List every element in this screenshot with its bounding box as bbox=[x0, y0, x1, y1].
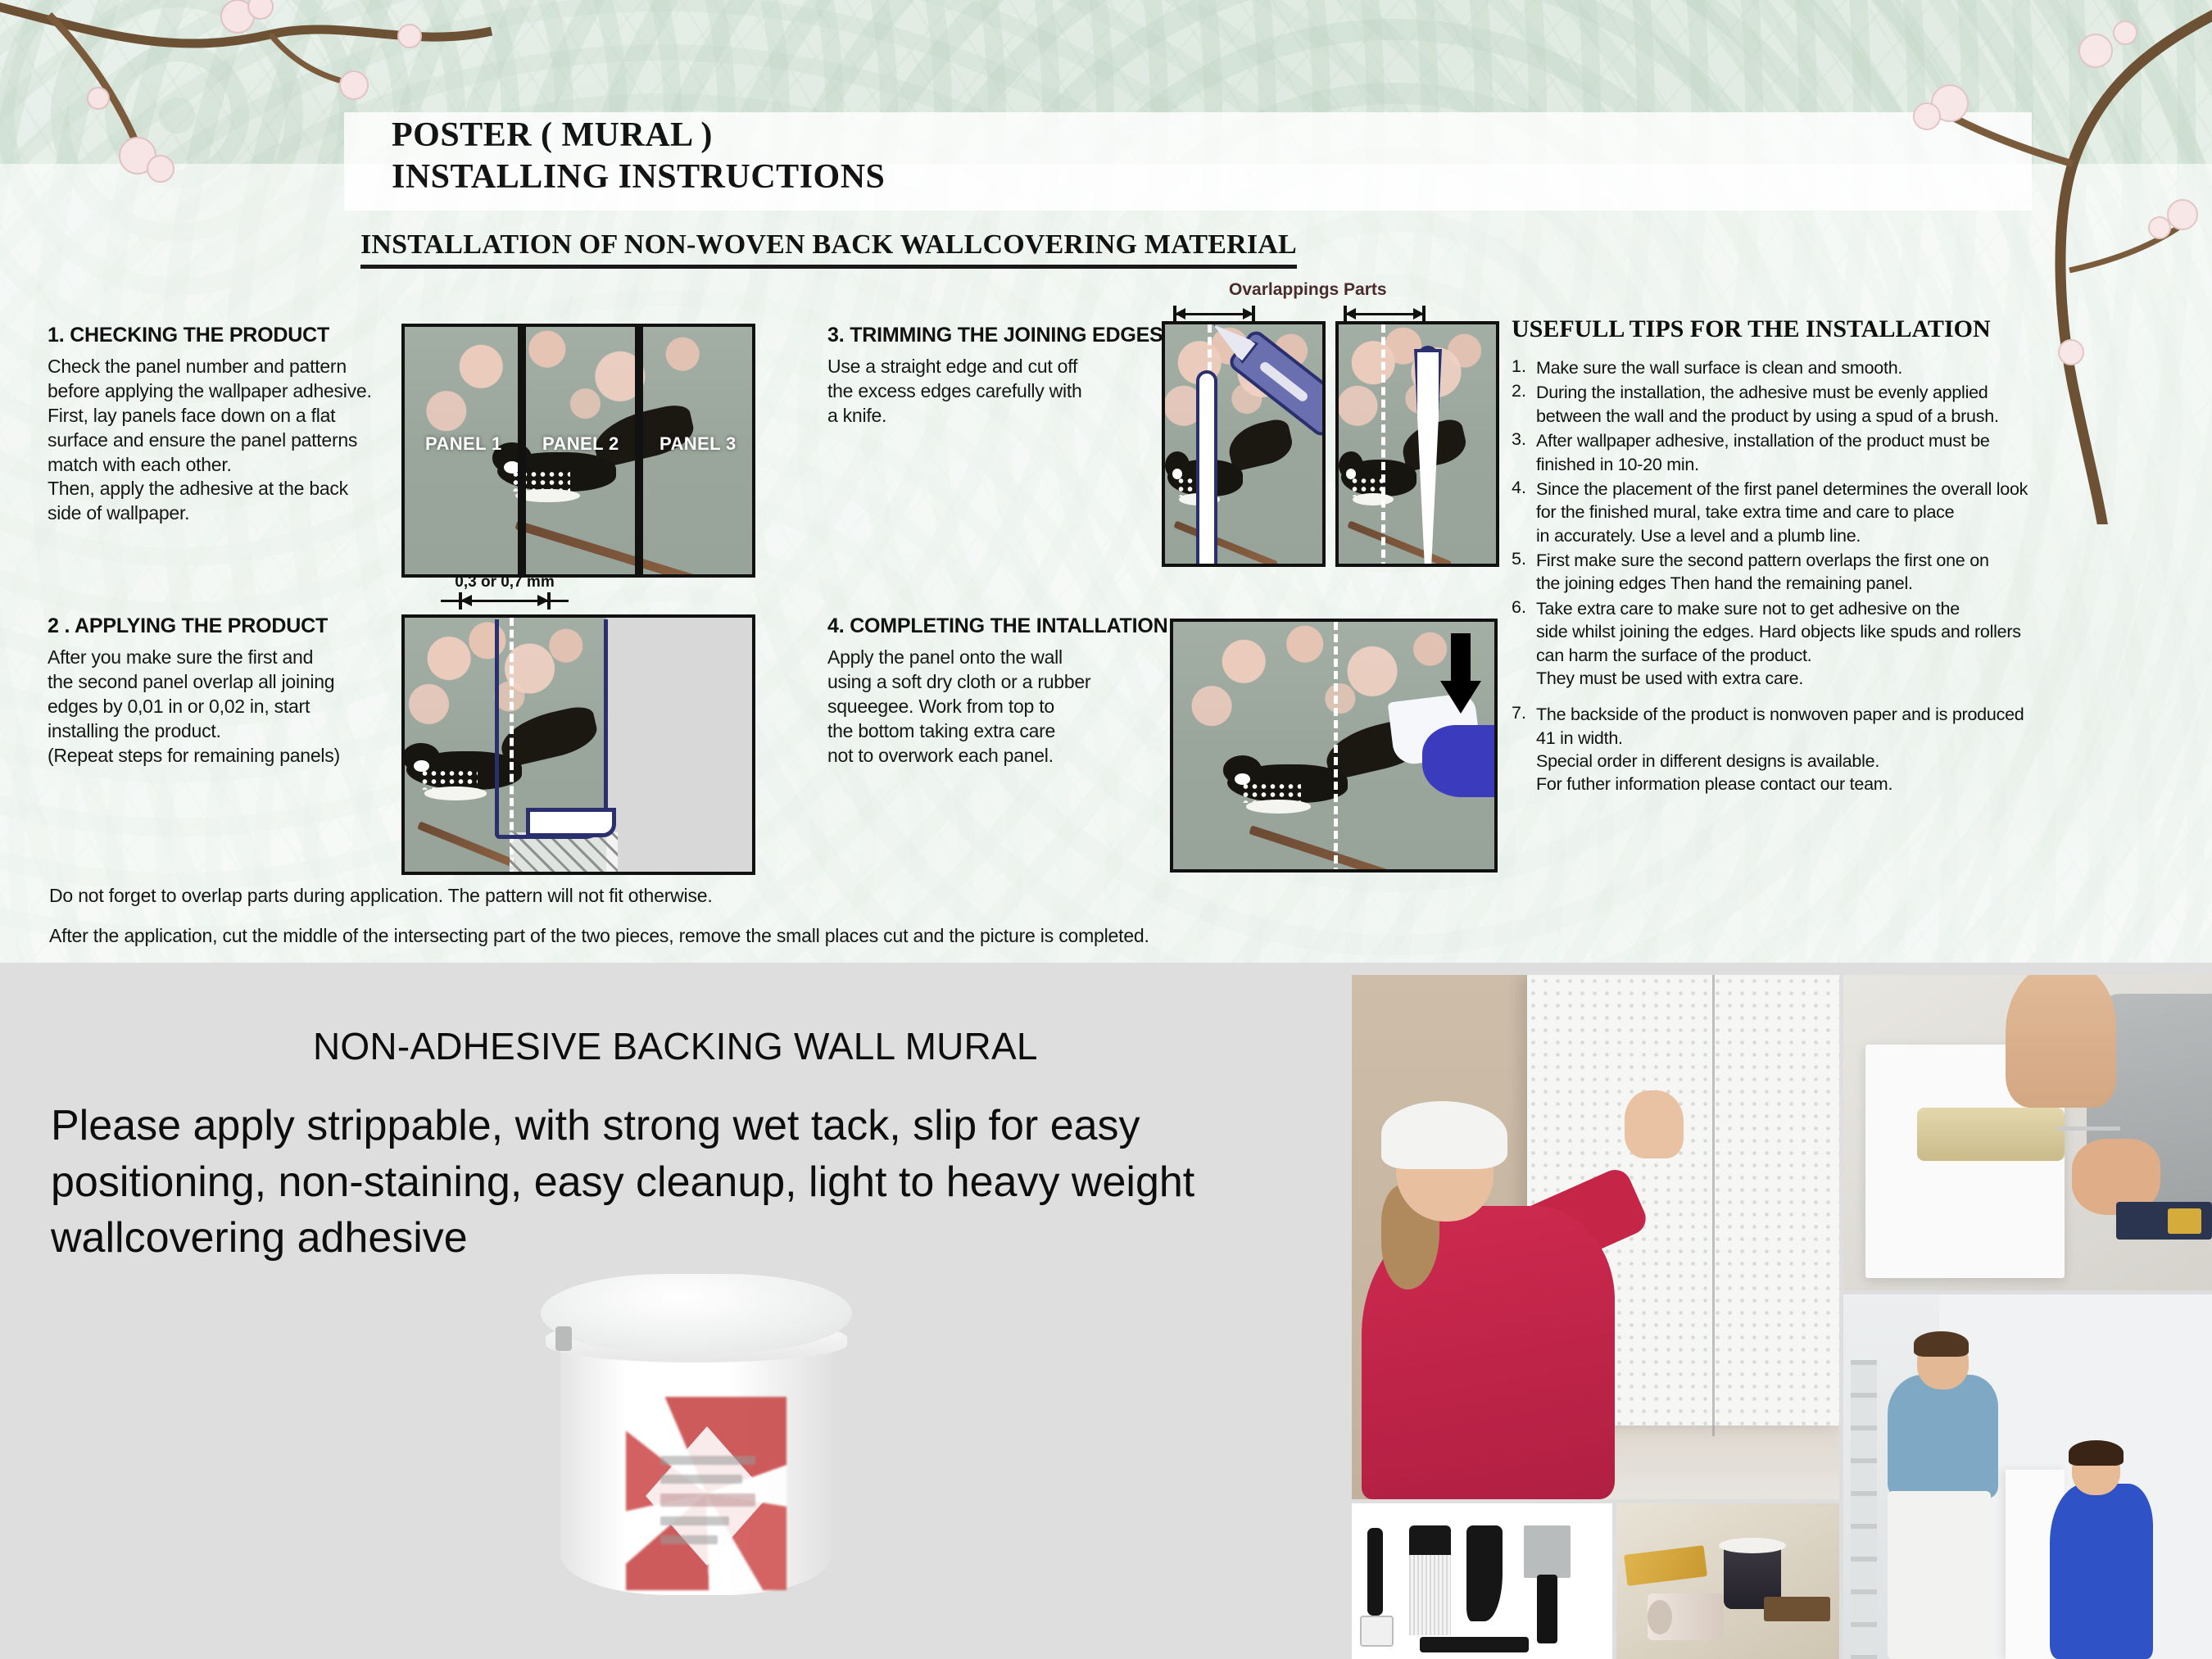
bird-illustration bbox=[1162, 397, 1307, 535]
tip-item: 3. After wallpaper adhesive, installatio… bbox=[1512, 429, 2159, 476]
step-2-line-1: After you make sure the first and bbox=[48, 646, 424, 670]
page-title: POSTER ( MURAL ) INSTALLING INSTRUCTIONS bbox=[392, 115, 885, 198]
work-board bbox=[1624, 1545, 1707, 1586]
step-2-diagram bbox=[401, 614, 755, 875]
tip-line: can harm the surface of the product. bbox=[1536, 644, 2021, 667]
paste-brush bbox=[1764, 1597, 1831, 1621]
tip-number: 6. bbox=[1512, 597, 1536, 691]
step-1-line-3: First, lay panels face down on a flat bbox=[48, 404, 416, 428]
gloved-hand-icon bbox=[1422, 725, 1498, 797]
tip-text: The backside of the product is nonwoven … bbox=[1536, 703, 2024, 796]
tip-item: 6. Take extra care to make sure not to g… bbox=[1512, 597, 2159, 691]
photo-collage bbox=[1352, 975, 2212, 1659]
man-torso bbox=[1888, 1375, 1998, 1498]
photo-tool-set bbox=[1352, 1503, 1612, 1659]
step-2-line-5: (Repeat steps for remaining panels) bbox=[48, 744, 424, 768]
worker-arm bbox=[2006, 975, 2116, 1108]
tip-text: After wallpaper adhesive, installation o… bbox=[1536, 429, 1990, 476]
step-4-line-2: using a soft dry cloth or a rubber bbox=[827, 670, 1172, 695]
tip-line: in accurately. Use a level and a plumb l… bbox=[1536, 524, 2028, 547]
step-3-block: 3. TRIMMING THE JOINING EDGES Use a stra… bbox=[827, 324, 1172, 428]
subtitle-row: INSTALLATION OF NON-WOVEN BACK WALLCOVER… bbox=[360, 229, 1297, 269]
paint-roller-icon bbox=[1917, 1108, 2065, 1161]
brush-bristles bbox=[1409, 1555, 1451, 1636]
step-2-line-4: installing the product. bbox=[48, 719, 424, 744]
tip-line: Take extra care to make sure not to get … bbox=[1536, 597, 2021, 620]
bird-belly bbox=[424, 786, 487, 800]
bucket-handle bbox=[555, 1326, 572, 1351]
footnotes-block: Do not forget to overlap parts during ap… bbox=[49, 886, 1149, 963]
title-line-1: POSTER ( MURAL ) bbox=[392, 115, 885, 156]
photo-roller-applying-paste bbox=[1843, 975, 2212, 1290]
tip-number: 7. bbox=[1512, 703, 1536, 796]
tip-text: First make sure the second pattern overl… bbox=[1536, 549, 1989, 596]
woman-cap bbox=[1381, 1101, 1508, 1169]
measurement-label: 0,3 or 0,7 mm bbox=[441, 573, 569, 592]
tip-item: 1. Make sure the wall surface is clean a… bbox=[1512, 356, 2159, 379]
overlap-tab bbox=[526, 808, 616, 837]
step-3-body: Use a straight edge and cut off the exce… bbox=[827, 355, 1172, 428]
tip-line: side whilst joining the edges. Hard obje… bbox=[1536, 620, 2021, 643]
ladder bbox=[1851, 1360, 1877, 1659]
step-3-title: 3. TRIMMING THE JOINING EDGES bbox=[827, 324, 1172, 347]
page-subtitle: INSTALLATION OF NON-WOVEN BACK WALLCOVER… bbox=[360, 229, 1297, 269]
tip-line: the joining edges Then hand the remainin… bbox=[1536, 572, 1989, 595]
tip-line: First make sure the second pattern overl… bbox=[1536, 549, 1989, 572]
step-2-title: 2 . APPLYING THE PRODUCT bbox=[48, 614, 424, 638]
step-4-body: Apply the panel onto the wall using a so… bbox=[827, 646, 1172, 768]
overlapping-parts-label: Ovarlappings Parts bbox=[1229, 280, 1387, 300]
photo-supplies bbox=[1616, 1503, 1839, 1659]
tip-line: Make sure the wall surface is clean and … bbox=[1536, 356, 1902, 379]
boy-hair bbox=[2069, 1440, 2124, 1466]
tip-number: 4. bbox=[1512, 478, 1536, 547]
promo-heading: NON-ADHESIVE BACKING WALL MURAL bbox=[313, 1024, 1038, 1068]
tip-number: 5. bbox=[1512, 549, 1536, 596]
photo-woman-hanging-wallpaper bbox=[1352, 975, 1839, 1499]
instructions-section: POSTER ( MURAL ) INSTALLING INSTRUCTIONS… bbox=[0, 0, 2212, 963]
promo-body: Please apply strippable, with strong wet… bbox=[51, 1098, 1353, 1267]
title-line-2: INSTALLING INSTRUCTIONS bbox=[392, 156, 885, 198]
tip-text: Take extra care to make sure not to get … bbox=[1536, 597, 2021, 691]
tip-number: 1. bbox=[1512, 356, 1536, 379]
step-1-body: Check the panel number and pattern befor… bbox=[48, 355, 416, 526]
belt-buckle bbox=[2168, 1208, 2201, 1234]
promo-line-3: wallcovering adhesive bbox=[51, 1210, 1353, 1267]
tip-item: 2. During the installation, the adhesive… bbox=[1512, 381, 2159, 428]
measure-arrow bbox=[1173, 305, 1255, 323]
photo-two-people-smoothing bbox=[1843, 1294, 2212, 1659]
downward-arrow-icon bbox=[1440, 633, 1481, 715]
bird-belly bbox=[1353, 493, 1393, 505]
tip-line: for the finished mural, take extra time … bbox=[1536, 501, 2028, 524]
tip-text: During the installation, the adhesive mu… bbox=[1536, 381, 1999, 428]
seam-roller-icon bbox=[1367, 1528, 1383, 1615]
step-3-line-2: the excess edges carefully with bbox=[827, 379, 1172, 404]
tip-text: Make sure the wall surface is clean and … bbox=[1536, 356, 1902, 379]
step-1-line-5: match with each other. bbox=[48, 453, 416, 478]
tip-line: During the installation, the adhesive mu… bbox=[1536, 381, 1999, 404]
bird-belly bbox=[1246, 800, 1311, 813]
bucket-label-text bbox=[660, 1456, 755, 1554]
bird-illustration bbox=[1335, 397, 1480, 535]
tip-line: Since the placement of the first panel d… bbox=[1536, 478, 2028, 501]
step-1-line-1: Check the panel number and pattern bbox=[48, 355, 416, 379]
step-1-line-6: Then, apply the adhesive at the back bbox=[48, 477, 416, 501]
panel-1-label: PANEL 1 bbox=[425, 433, 502, 455]
tip-number: 3. bbox=[1512, 429, 1536, 476]
step-2-body: After you make sure the first and the se… bbox=[48, 646, 424, 768]
boy-torso bbox=[2050, 1484, 2153, 1659]
paste-bucket-rim bbox=[1719, 1538, 1786, 1553]
bird-tail bbox=[1225, 417, 1296, 472]
step-3-diagram-knife bbox=[1162, 321, 1326, 567]
useful-tips-section: USEFULL TIPS FOR THE INSTALLATION 1. Mak… bbox=[1512, 315, 2159, 798]
man-hair bbox=[1914, 1331, 1969, 1357]
overlap-measure-right bbox=[1344, 305, 1426, 323]
tip-line: For futher information please contact ou… bbox=[1536, 773, 2024, 796]
tip-line: between the wall and the product by usin… bbox=[1536, 405, 1999, 428]
step-4-line-1: Apply the panel onto the wall bbox=[827, 646, 1172, 670]
step-3-line-3: a knife. bbox=[827, 404, 1172, 428]
step-4-title: 4. COMPLETING THE INTALLATION bbox=[827, 614, 1172, 638]
scraper-blade-icon bbox=[1524, 1525, 1571, 1579]
tips-title: USEFULL TIPS FOR THE INSTALLATION bbox=[1512, 315, 2159, 343]
step-4-line-3: squeegee. Work from top to bbox=[827, 695, 1172, 719]
tip-number: 2. bbox=[1512, 381, 1536, 428]
step-1-title: 1. CHECKING THE PRODUCT bbox=[48, 324, 416, 347]
tip-line: Special order in different designs is av… bbox=[1536, 750, 2024, 773]
straight-edge-icon bbox=[1196, 370, 1217, 567]
panel-3-label: PANEL 3 bbox=[660, 433, 737, 455]
step-4-diagram bbox=[1170, 619, 1498, 873]
roller-bar bbox=[2057, 1126, 2120, 1131]
paper-seam bbox=[1712, 975, 1715, 1436]
step-4-line-5: not to overwork each panel. bbox=[827, 744, 1172, 768]
step-3-diagram-ruler bbox=[1335, 321, 1499, 567]
tip-item: 4. Since the placement of the first pane… bbox=[1512, 478, 2159, 547]
scraper-handle bbox=[1537, 1575, 1557, 1643]
step-1-line-4: surface and ensure the panel patterns bbox=[48, 428, 416, 453]
step-2-block: 2 . APPLYING THE PRODUCT After you make … bbox=[48, 614, 424, 768]
tip-item: 7. The backside of the product is nonwov… bbox=[1512, 703, 2159, 796]
wallpaper-roll-end bbox=[1648, 1600, 1672, 1634]
tip-line: finished in 10-20 min. bbox=[1536, 453, 1990, 476]
step-1-diagram: PANEL 1 PANEL 2 PANEL 3 bbox=[401, 324, 755, 578]
cut-guide-line bbox=[1334, 622, 1338, 873]
promo-line-2: positioning, non-staining, easy cleanup,… bbox=[51, 1154, 1353, 1211]
step-2-line-2: the second panel overlap all joining bbox=[48, 670, 424, 695]
bucket-lid bbox=[541, 1274, 852, 1353]
tip-line: They must be used with extra care. bbox=[1536, 667, 2021, 690]
measure-arrow bbox=[441, 592, 569, 610]
measure-arrow bbox=[1344, 305, 1426, 323]
footnote-1: Do not forget to overlap parts during ap… bbox=[49, 886, 1149, 905]
step-1-line-7: side of wallpaper. bbox=[48, 501, 416, 526]
overlap-outline bbox=[495, 619, 608, 839]
step-2-line-3: edges by 0,01 in or 0,02 in, start bbox=[48, 695, 424, 719]
man-trousers bbox=[1888, 1491, 1991, 1659]
woman-hand bbox=[1625, 1090, 1683, 1158]
smoother-blade-icon bbox=[1466, 1525, 1503, 1622]
panel-2-label: PANEL 2 bbox=[542, 433, 619, 455]
smoothing-brush-icon bbox=[1409, 1525, 1451, 1557]
tip-item: 5. First make sure the second pattern ov… bbox=[1512, 549, 2159, 596]
step-1-line-2: before applying the wallpaper adhesive. bbox=[48, 379, 416, 404]
footnote-2: After the application, cut the middle of… bbox=[49, 927, 1149, 945]
adhesive-bucket-image bbox=[541, 1274, 852, 1618]
step-1-block: 1. CHECKING THE PRODUCT Check the panel … bbox=[48, 324, 416, 526]
promo-line-1: Please apply strippable, with strong wet… bbox=[51, 1098, 1353, 1154]
tip-line: After wallpaper adhesive, installation o… bbox=[1536, 429, 1990, 452]
step-4-block: 4. COMPLETING THE INTALLATION Apply the … bbox=[827, 614, 1172, 768]
step-4-line-4: the bottom taking extra care bbox=[827, 719, 1172, 744]
tip-line: 41 in width. bbox=[1536, 727, 2024, 750]
cut-guide-line bbox=[1381, 324, 1385, 567]
panel-gap-measurement: 0,3 or 0,7 mm bbox=[441, 573, 569, 610]
tip-text: Since the placement of the first panel d… bbox=[1536, 478, 2028, 547]
installation-instruction-poster: POSTER ( MURAL ) INSTALLING INSTRUCTIONS… bbox=[0, 0, 2212, 1659]
seam-roller-head bbox=[1360, 1616, 1394, 1647]
tip-line: The backside of the product is nonwoven … bbox=[1536, 703, 2024, 726]
utility-knife-icon bbox=[1420, 1637, 1530, 1652]
overlap-measure-left bbox=[1173, 305, 1255, 323]
step-3-line-1: Use a straight edge and cut off bbox=[827, 355, 1172, 379]
